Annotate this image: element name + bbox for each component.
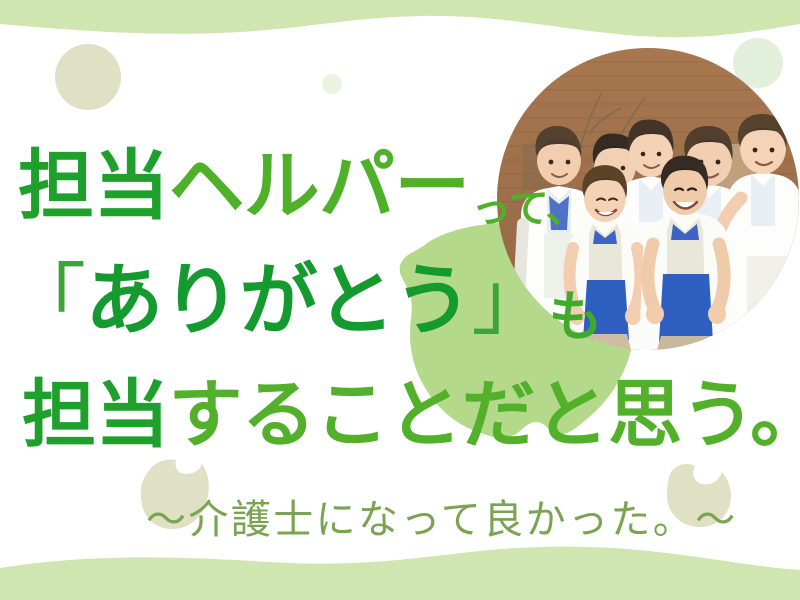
decor-circle-top-left-beige [55, 44, 121, 110]
poster-root: 担当ヘルパーって、 「ありがとう」も 担当することだと思う。 〜介護士になって良… [0, 0, 800, 600]
headline-line3-segment-1: 担当 [22, 378, 169, 452]
headline-line3-segment-2: することだと思う。 [169, 378, 800, 452]
staff-group-photo [497, 48, 799, 350]
top-wave-band [0, 0, 800, 46]
headline-line-3: 担当することだと思う。 [22, 378, 800, 452]
headline-line2-segment-main: ありがとう [85, 262, 471, 340]
headline-line-2: 「ありがとう」も [8, 262, 602, 340]
bottom-wave-band [0, 538, 800, 600]
headline-line1-segment-1: 担当 [18, 148, 168, 224]
headline-line1-segment-2: ヘルパー [168, 148, 469, 224]
tagline: 〜介護士になって良かった。〜 [146, 500, 738, 540]
decor-circle-top-mid-pale [322, 74, 342, 94]
headline-line2-bracket-open: 「 [8, 262, 85, 340]
